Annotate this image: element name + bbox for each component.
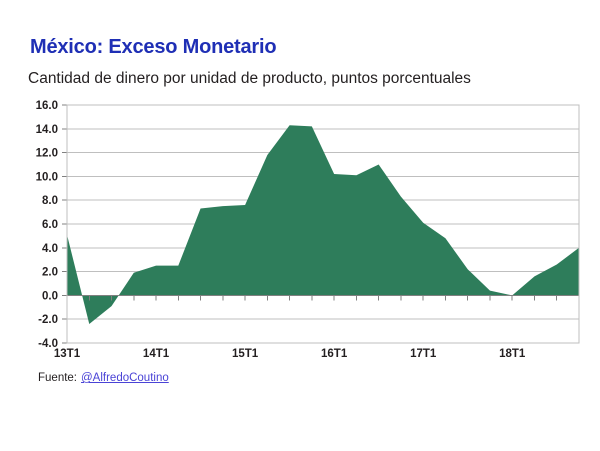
y-axis-label: 8.0 (42, 195, 58, 207)
series-area (67, 125, 579, 324)
y-axis-label: 14.0 (36, 124, 58, 136)
chart-subtitle: Cantidad de dinero por unidad de product… (28, 70, 471, 88)
y-axis-label: 6.0 (42, 219, 58, 231)
y-axis-label: 2.0 (42, 267, 58, 279)
x-axis-label: 14T1 (143, 348, 170, 358)
page-title: México: Exceso Monetario (30, 36, 276, 59)
y-axis-label: 0.0 (42, 290, 58, 302)
y-axis-label: -2.0 (38, 314, 58, 326)
y-axis-label: 10.0 (36, 171, 58, 183)
y-axis-labels-group: 16.014.012.010.08.06.04.02.00.0-2.0-4.0 (36, 100, 58, 350)
series-area-group (67, 125, 579, 324)
x-axis-label: 17T1 (410, 348, 437, 358)
y-axis-label: 16.0 (36, 100, 58, 112)
chart-plot-area: 16.014.012.010.08.06.04.02.00.0-2.0-4.0 … (0, 96, 600, 358)
area-chart: 16.014.012.010.08.06.04.02.00.0-2.0-4.0 … (0, 96, 600, 358)
source-handle-link[interactable]: @AlfredoCoutino (81, 372, 169, 384)
x-axis-label: 15T1 (232, 348, 259, 358)
x-axis-label: 16T1 (321, 348, 348, 358)
source-note: Fuente:@AlfredoCoutino (38, 372, 169, 384)
y-axis-label: 4.0 (42, 243, 58, 255)
slide-canvas: México: Exceso Monetario Cantidad de din… (0, 0, 600, 451)
x-axis-labels-group: 13T114T115T116T117T118T1 (54, 348, 526, 358)
x-axis-label: 13T1 (54, 348, 81, 358)
y-axis-label: 12.0 (36, 148, 58, 160)
source-label: Fuente: (38, 372, 77, 384)
x-axis-label: 18T1 (499, 348, 526, 358)
